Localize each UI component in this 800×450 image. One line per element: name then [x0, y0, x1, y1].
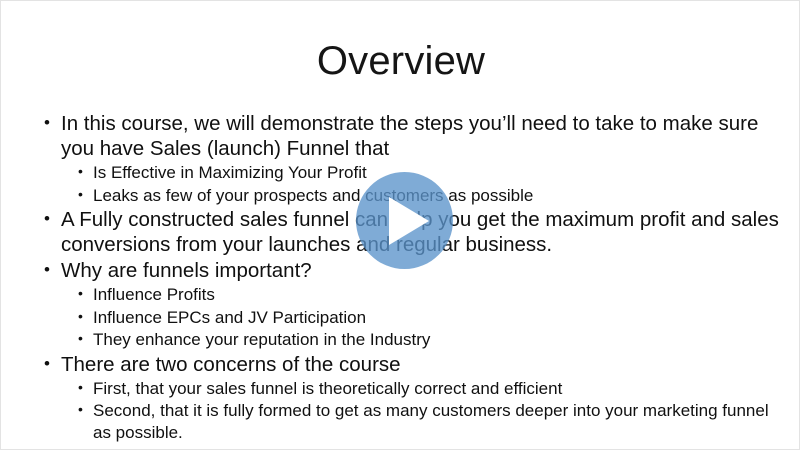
bullet-item: There are two concerns of the course — [39, 352, 781, 377]
play-button[interactable] — [356, 172, 453, 269]
play-triangle-icon — [389, 197, 429, 245]
video-player[interactable]: Overview In this course, we will demonst… — [0, 0, 800, 450]
bullet-item: In this course, we will demonstrate the … — [39, 111, 781, 161]
bullet-item: They enhance your reputation in the Indu… — [39, 329, 781, 351]
bullet-item: Second, that it is fully formed to get a… — [39, 400, 781, 443]
slide-body-list: In this course, we will demonstrate the … — [39, 111, 781, 444]
bullet-item: Influence EPCs and JV Participation — [39, 307, 781, 329]
bullet-item: First, that your sales funnel is theoret… — [39, 378, 781, 400]
bullet-item: Influence Profits — [39, 284, 781, 306]
page-title: Overview — [1, 39, 800, 83]
